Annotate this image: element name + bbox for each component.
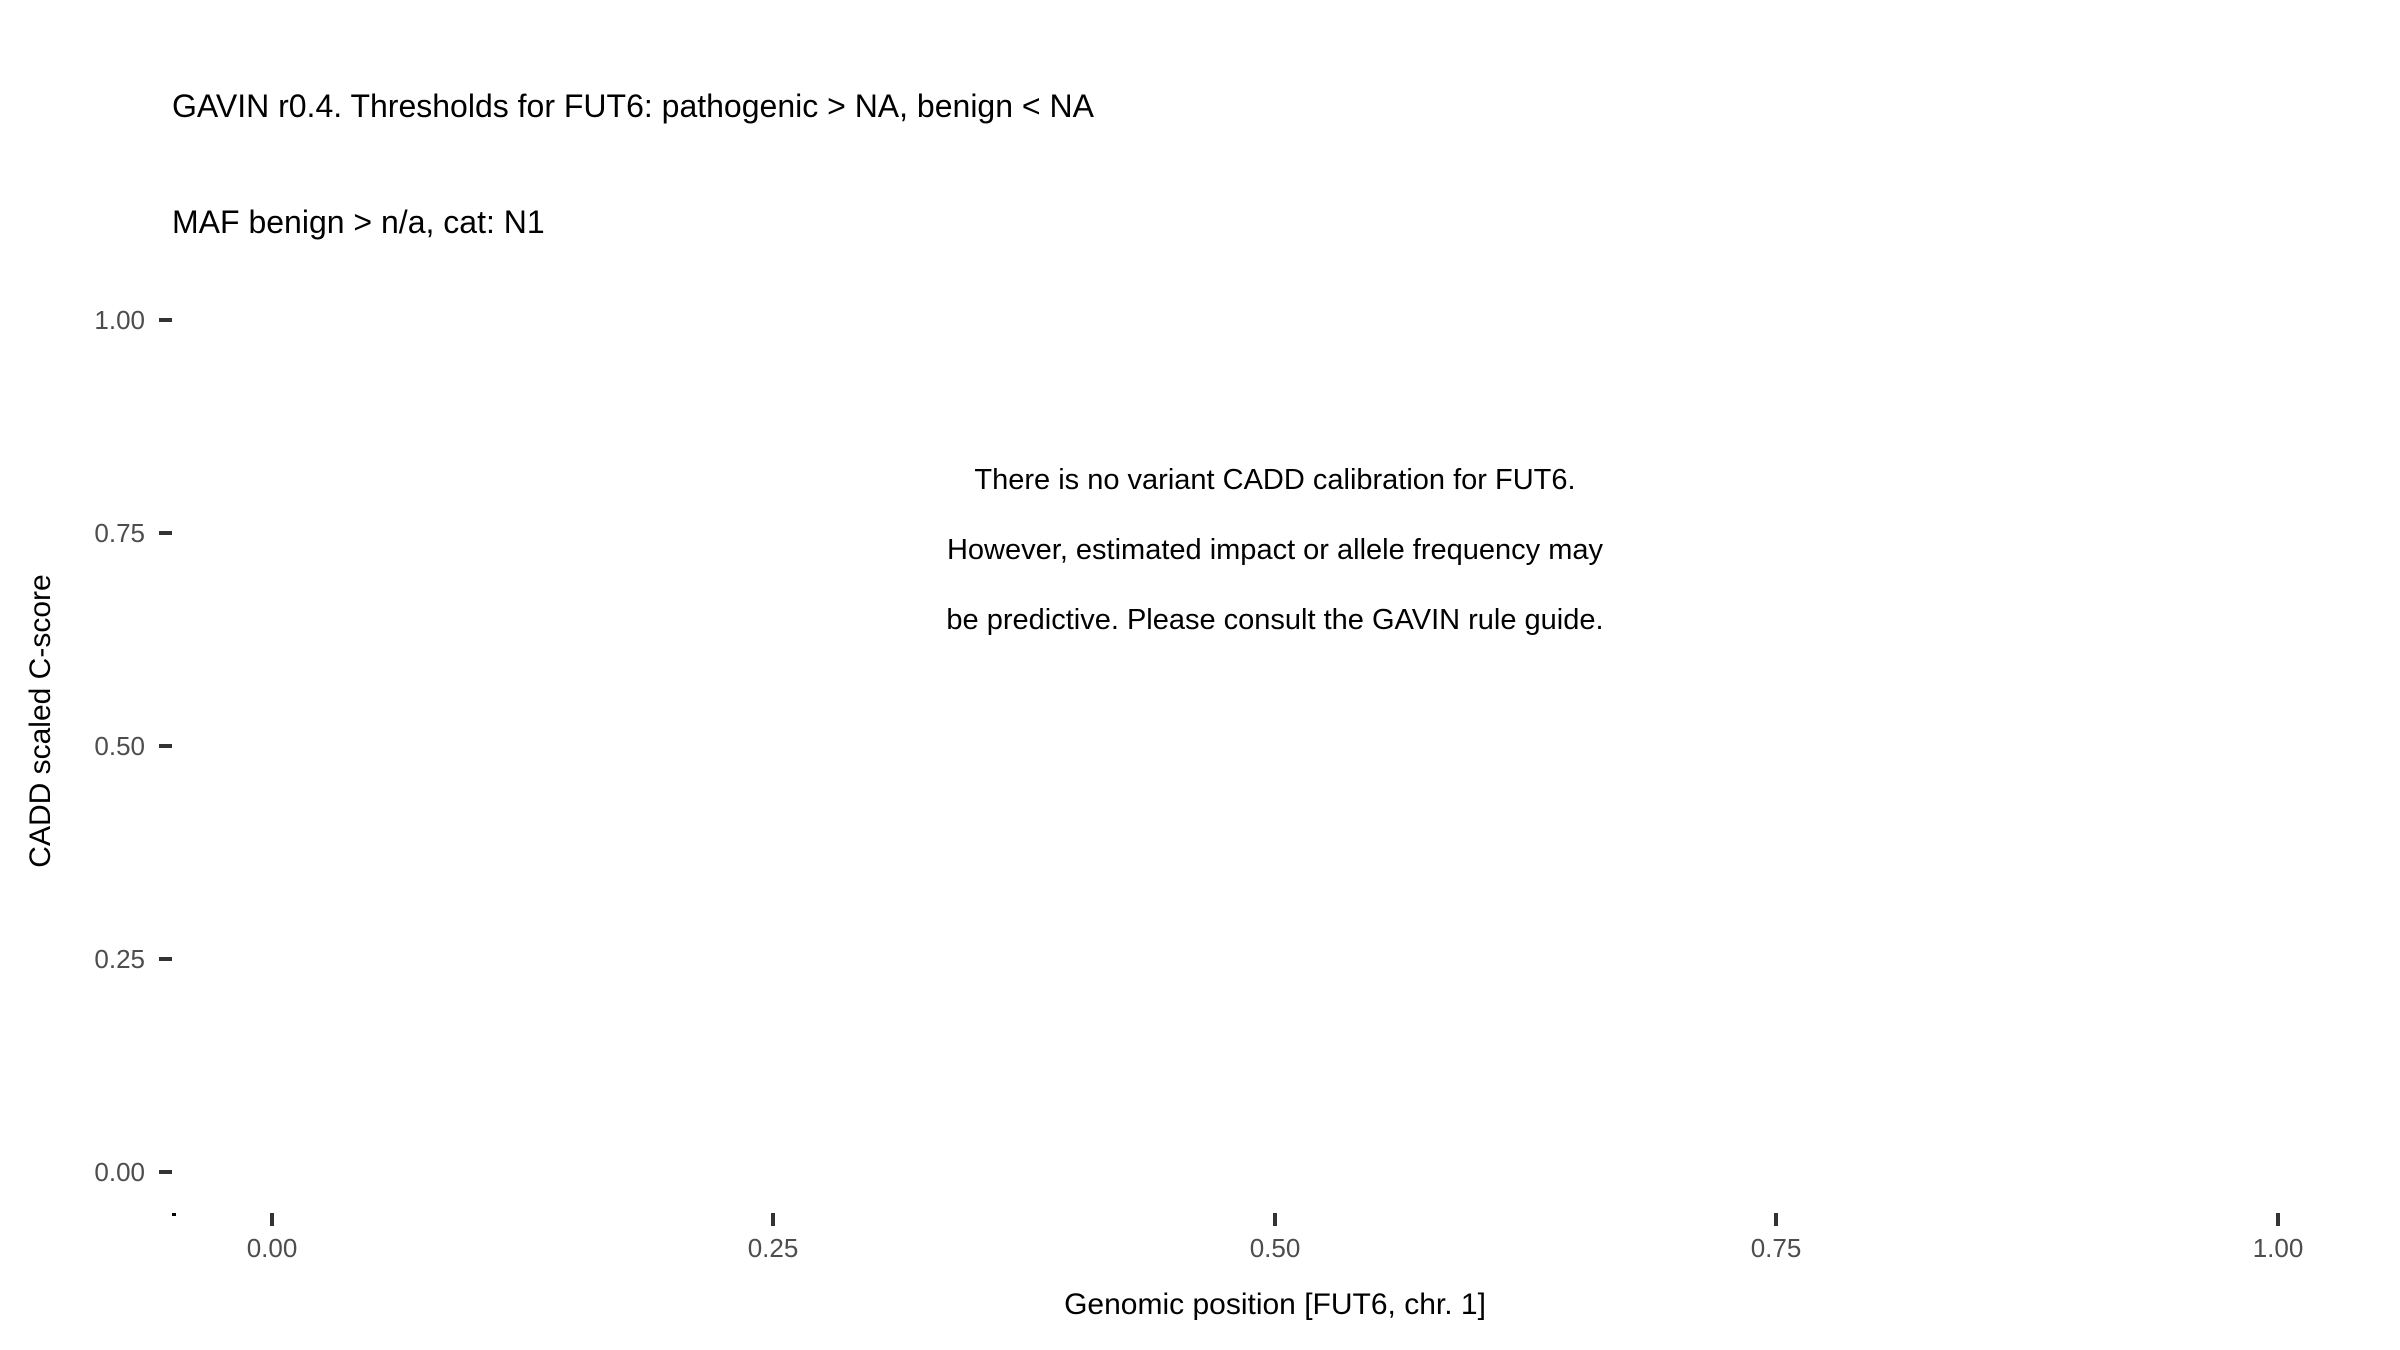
x-tick-label-0.00: 0.00: [192, 1233, 352, 1264]
x-tick-mark-0.75: [1774, 1213, 1778, 1226]
panel-annotation: There is no variant CADD calibration for…: [172, 445, 2378, 655]
x-axis-title: Genomic position [FUT6, chr. 1]: [172, 1288, 2378, 1322]
y-tick-label-0.00: 0.00: [35, 1157, 145, 1188]
panel-annotation-line-3: be predictive. Please consult the GAVIN …: [172, 585, 2378, 655]
x-tick-mark-0.50: [1273, 1213, 1277, 1226]
chart-title-line-1: GAVIN r0.4. Thresholds for FUT6: pathoge…: [172, 87, 2352, 126]
y-tick-mark-0.50: [159, 744, 172, 748]
y-tick-mark-1.00: [159, 318, 172, 322]
x-tick-mark-0.25: [771, 1213, 775, 1226]
y-tick-mark-0.00: [159, 1170, 172, 1174]
panel-annotation-line-1: There is no variant CADD calibration for…: [172, 445, 2378, 515]
y-tick-label-1.00: 1.00: [35, 305, 145, 336]
plot-panel: There is no variant CADD calibration for…: [172, 277, 2378, 1213]
x-tick-mark-0.00: [270, 1213, 274, 1226]
x-tick-label-0.75: 0.75: [1696, 1233, 1856, 1264]
panel-annotation-line-2: However, estimated impact or allele freq…: [172, 515, 2378, 585]
x-tick-label-0.25: 0.25: [693, 1233, 853, 1264]
y-tick-mark-0.25: [159, 957, 172, 961]
y-axis-title: CADD scaled C-score: [24, 371, 58, 1071]
x-tick-label-0.50: 0.50: [1195, 1233, 1355, 1264]
x-tick-mark-1.00: [2276, 1213, 2280, 1226]
x-tick-label-1.00: 1.00: [2198, 1233, 2358, 1264]
chart-canvas: GAVIN r0.4. Thresholds for FUT6: pathoge…: [0, 0, 2400, 1350]
y-tick-mark-0.75: [159, 531, 172, 535]
chart-title-line-2: MAF benign > n/a, cat: N1: [172, 203, 2352, 242]
